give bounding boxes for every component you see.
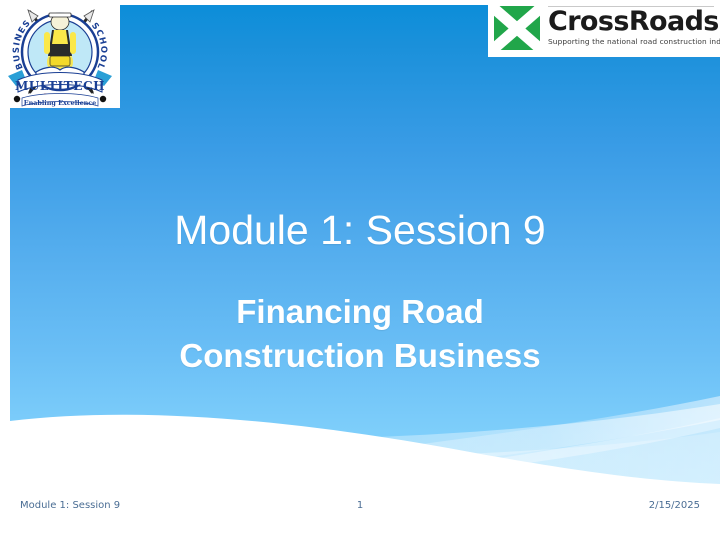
crossroads-tagline: Supporting the national road constructio… <box>548 37 720 46</box>
crossroads-x-mark-icon <box>494 6 540 50</box>
multitech-business-school-logo: BUSINESS SCHOOL MULTITECH M B S Enabling… <box>0 0 120 108</box>
slide-subtitle-line-2: Construction Business <box>60 334 660 378</box>
footer-page-number: 1 <box>0 499 720 513</box>
crossroads-brand-name: CrossRoads <box>548 7 720 36</box>
subtitle-placeholder: Financing Road Construction Business <box>60 290 660 378</box>
crest-motto-text: Enabling Excellence <box>24 99 97 107</box>
crest-motto: Enabling Excellence <box>22 94 98 108</box>
presentation-slide: BUSINESS SCHOOL MULTITECH M B S Enabling… <box>0 0 720 540</box>
slide-title: Module 1: Session 9 <box>60 205 660 255</box>
slide-footer: Module 1: Session 9 1 2/15/2025 <box>0 498 720 518</box>
crossroads-logo: CrossRoads Supporting the national road … <box>488 0 720 57</box>
footer-date: 2/15/2025 <box>649 499 700 513</box>
slide-subtitle-line-1: Financing Road <box>60 290 660 334</box>
crest-banner-text: MULTITECH <box>15 79 105 93</box>
title-placeholder: Module 1: Session 9 <box>60 205 660 255</box>
